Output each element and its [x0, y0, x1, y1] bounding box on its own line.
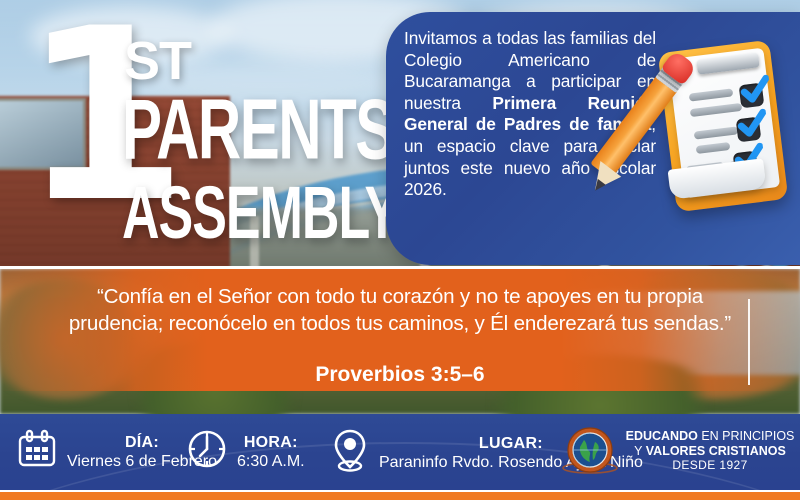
- footer-time-label: HORA:: [244, 434, 298, 451]
- poster-title: 1 ST PARENTS ASSEMBLY: [10, 14, 390, 254]
- tagline-line-3: DESDE 1927: [622, 458, 798, 473]
- footer-item-time: HORA: 6:30 A.M.: [186, 428, 305, 475]
- check-mark-icon: [736, 109, 765, 138]
- footer-day-label: DÍA:: [125, 434, 159, 451]
- tagline-y: Y: [634, 444, 646, 458]
- footer-time-text: HORA: 6:30 A.M.: [237, 433, 305, 471]
- title-ordinal-suffix: ST: [124, 36, 394, 87]
- map-pin-icon: [330, 427, 370, 478]
- calendar-icon: [16, 428, 58, 475]
- check-mark-icon: [739, 75, 768, 104]
- footer-time-value: 6:30 A.M.: [237, 453, 305, 470]
- tagline-line-1: EDUCANDO EN PRINCIPIOS: [622, 429, 798, 444]
- tagline-en-principios: EN PRINCIPIOS: [698, 429, 795, 443]
- tagline-educando: EDUCANDO: [626, 429, 698, 443]
- title-line-assembly: ASSEMBLY: [122, 180, 394, 250]
- vertical-accent-line: [748, 299, 750, 385]
- logo-tagline: EDUCANDO EN PRINCIPIOS Y VALORES CRISTIA…: [622, 429, 798, 473]
- poster: 1 ST PARENTS ASSEMBLY Invitamos a todas …: [0, 0, 800, 500]
- tagline-valores-cristianos: VALORES CRISTIANOS: [646, 444, 786, 458]
- globe-badge-icon: [562, 424, 618, 480]
- footer-place-label: LUGAR:: [479, 435, 543, 452]
- quote-reference: Proverbios 3:5–6: [60, 363, 740, 387]
- scripture-quote-section: “Confía en el Señor con todo tu corazón …: [0, 269, 800, 414]
- quote-text: “Confía en el Señor con todo tu corazón …: [60, 283, 740, 337]
- clock-icon: [186, 428, 228, 475]
- clipboard-checklist-pencil-illustration: [645, 36, 797, 236]
- title-lines: ST PARENTS ASSEMBLY: [122, 36, 394, 230]
- bottom-orange-bar: [0, 492, 800, 500]
- section-divider: [0, 266, 800, 269]
- tagline-line-2: Y VALORES CRISTIANOS: [622, 444, 798, 459]
- title-line-parents: PARENTS: [122, 89, 394, 170]
